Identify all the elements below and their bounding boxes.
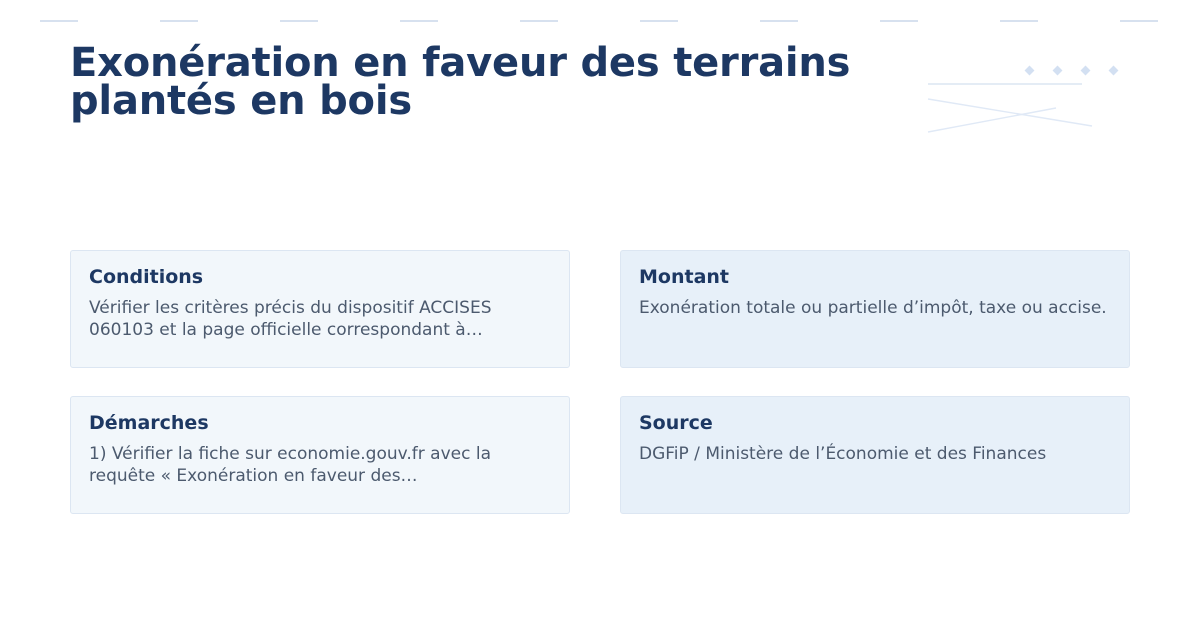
card-title-montant: Montant: [639, 265, 1111, 289]
info-card-grid: Conditions Vérifier les critères précis …: [70, 250, 1130, 514]
page-title: Exonération en faveur des terrains plant…: [70, 44, 1030, 120]
slide-canvas: Exonération en faveur des terrains plant…: [0, 0, 1200, 630]
diamond-dot-row-icon: [1026, 64, 1136, 78]
card-body-montant: Exonération totale ou partielle d’impôt,…: [639, 297, 1111, 319]
title-block: Exonération en faveur des terrains plant…: [70, 44, 1030, 120]
top-dashed-rule-icon: [0, 20, 1200, 22]
diamond-dot-icon: [1081, 66, 1091, 76]
card-body-source: DGFiP / Ministère de l’Économie et des F…: [639, 443, 1111, 465]
card-title-source: Source: [639, 411, 1111, 435]
card-body-conditions: Vérifier les critères précis du disposit…: [89, 297, 551, 341]
info-card-montant: Montant Exonération totale ou partielle …: [620, 250, 1130, 368]
diamond-dot-icon: [1053, 66, 1063, 76]
info-card-demarches: Démarches 1) Vérifier la fiche sur econo…: [70, 396, 570, 514]
card-body-demarches: 1) Vérifier la fiche sur economie.gouv.f…: [89, 443, 551, 487]
info-card-conditions: Conditions Vérifier les critères précis …: [70, 250, 570, 368]
card-title-conditions: Conditions: [89, 265, 551, 289]
diamond-dot-icon: [1109, 66, 1119, 76]
info-card-source: Source DGFiP / Ministère de l’Économie e…: [620, 396, 1130, 514]
card-title-demarches: Démarches: [89, 411, 551, 435]
